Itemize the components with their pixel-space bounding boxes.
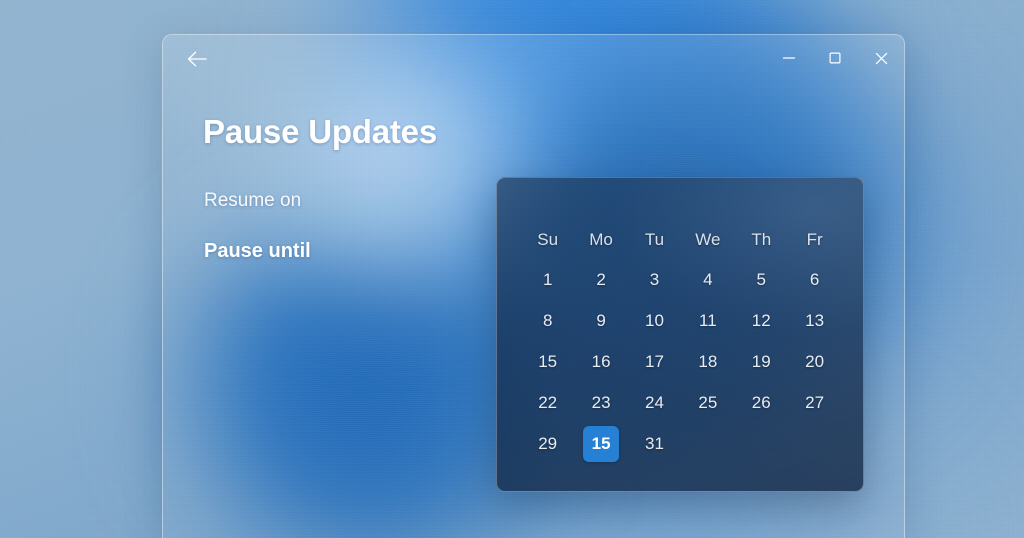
calendar-day-cell[interactable]: 25 xyxy=(681,382,734,423)
calendar-grid: SuMoTuWeThFr1234568910111213151617181920… xyxy=(521,221,841,464)
calendar-day-selected[interactable]: 15 xyxy=(574,423,627,464)
calendar-day-label: 17 xyxy=(636,344,672,380)
minimize-icon xyxy=(782,51,796,65)
calendar-day-label: 23 xyxy=(583,385,619,421)
calendar-weekday-header: Th xyxy=(735,221,788,259)
calendar-day-label: 31 xyxy=(636,426,672,462)
calendar-day-label: 29 xyxy=(530,426,566,462)
caption-button-group xyxy=(766,35,904,81)
calendar-day-cell[interactable]: 9 xyxy=(574,300,627,341)
screen-root: Pause Updates Resume on Pause until SuMo… xyxy=(0,0,1024,538)
calendar-day-cell[interactable]: 3 xyxy=(628,259,681,300)
calendar-day-cell[interactable]: 5 xyxy=(735,259,788,300)
calendar-day-cell[interactable]: 18 xyxy=(681,341,734,382)
calendar-day-label: 2 xyxy=(583,262,619,298)
calendar-weekday-header: Su xyxy=(521,221,574,259)
calendar-day-label: 12 xyxy=(743,303,779,339)
calendar-day-cell[interactable]: 19 xyxy=(735,341,788,382)
calendar-day-cell[interactable]: 29 xyxy=(521,423,574,464)
calendar-day-label: 11 xyxy=(690,303,726,339)
calendar-day-cell[interactable]: 17 xyxy=(628,341,681,382)
calendar-day-label: 13 xyxy=(797,303,833,339)
calendar-day-empty xyxy=(788,423,841,464)
calendar-day-label: 18 xyxy=(690,344,726,380)
calendar-day-empty xyxy=(735,423,788,464)
calendar-day-cell[interactable]: 22 xyxy=(521,382,574,423)
calendar-weekday-header: Tu xyxy=(628,221,681,259)
calendar-day-label: 6 xyxy=(797,262,833,298)
calendar-day-label: 25 xyxy=(690,385,726,421)
calendar-day-cell[interactable]: 4 xyxy=(681,259,734,300)
maximize-button[interactable] xyxy=(812,35,858,81)
calendar-day-label: 1 xyxy=(530,262,566,298)
minimize-button[interactable] xyxy=(766,35,812,81)
calendar-day-label: 4 xyxy=(690,262,726,298)
calendar-day-label: 16 xyxy=(583,344,619,380)
calendar-day-empty xyxy=(681,423,734,464)
title-bar xyxy=(163,35,904,83)
calendar-day-cell[interactable]: 23 xyxy=(574,382,627,423)
calendar-day-cell[interactable]: 6 xyxy=(788,259,841,300)
calendar-day-cell[interactable]: 8 xyxy=(521,300,574,341)
resume-on-label: Resume on xyxy=(204,190,301,212)
close-button[interactable] xyxy=(858,35,904,81)
calendar-day-cell[interactable]: 26 xyxy=(735,382,788,423)
calendar-flyout: SuMoTuWeThFr1234568910111213151617181920… xyxy=(496,177,864,492)
calendar-weekday-header: Mo xyxy=(574,221,627,259)
calendar-day-cell[interactable]: 20 xyxy=(788,341,841,382)
calendar-day-label: 9 xyxy=(583,303,619,339)
calendar-day-cell[interactable]: 16 xyxy=(574,341,627,382)
calendar-day-cell[interactable]: 2 xyxy=(574,259,627,300)
calendar-day-label: 24 xyxy=(636,385,672,421)
calendar-weekday-header: Fr xyxy=(788,221,841,259)
calendar-day-cell[interactable]: 11 xyxy=(681,300,734,341)
close-icon xyxy=(874,51,889,66)
calendar-day-label: 20 xyxy=(797,344,833,380)
calendar-day-cell[interactable]: 13 xyxy=(788,300,841,341)
back-arrow-icon xyxy=(186,50,208,68)
page-title: Pause Updates xyxy=(203,113,437,151)
calendar-day-cell[interactable]: 31 xyxy=(628,423,681,464)
calendar-day-label: 15 xyxy=(530,344,566,380)
calendar-day-label: 10 xyxy=(636,303,672,339)
calendar-day-label: 5 xyxy=(743,262,779,298)
calendar-day-label: 15 xyxy=(583,426,619,462)
calendar-weekday-header: We xyxy=(681,221,734,259)
maximize-icon xyxy=(828,51,842,65)
pause-until-label: Pause until xyxy=(204,240,311,263)
calendar-day-label: 27 xyxy=(797,385,833,421)
calendar-day-label: 26 xyxy=(743,385,779,421)
calendar-day-cell[interactable]: 24 xyxy=(628,382,681,423)
calendar-day-cell[interactable]: 10 xyxy=(628,300,681,341)
calendar-day-cell[interactable]: 12 xyxy=(735,300,788,341)
calendar-day-label: 19 xyxy=(743,344,779,380)
calendar-day-cell[interactable]: 1 xyxy=(521,259,574,300)
calendar-day-label: 8 xyxy=(530,303,566,339)
calendar-day-cell[interactable]: 27 xyxy=(788,382,841,423)
back-button[interactable] xyxy=(179,41,215,77)
calendar-day-label: 3 xyxy=(636,262,672,298)
calendar-day-cell[interactable]: 15 xyxy=(521,341,574,382)
calendar-day-label: 22 xyxy=(530,385,566,421)
